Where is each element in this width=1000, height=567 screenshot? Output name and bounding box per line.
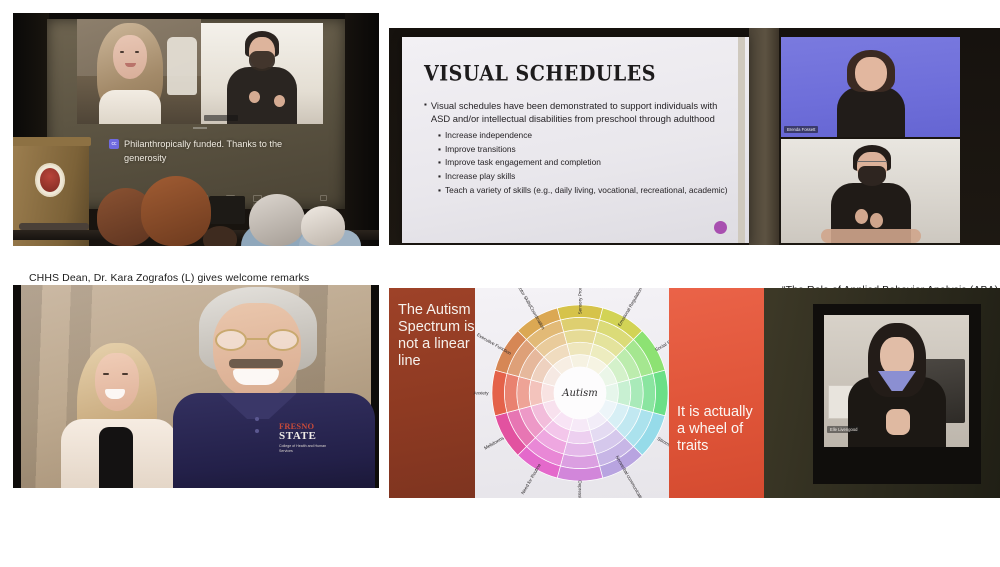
figure-aba-presentation: VISUAL SCHEDULES ▪ Visual schedules have… (389, 28, 1000, 245)
projection-screen: cc Philanthropically funded. Thanks to t… (47, 19, 345, 209)
person-mustache (229, 359, 283, 368)
signing-hand-right (274, 95, 285, 107)
live-caption-line-1: Philanthropically funded. Thanks to the (124, 137, 282, 151)
polo-button (255, 429, 259, 433)
wall-divider (749, 28, 779, 245)
sub-bullet-text: Increase independence (445, 129, 532, 143)
person-beard (249, 51, 275, 71)
slide-bullet-main-text: Visual schedules have been demonstrated … (431, 99, 731, 126)
bullet-marker-icon: ▪ (438, 170, 441, 184)
screen-edge (738, 37, 745, 243)
live-caption-overlay: cc Philanthropically funded. Thanks to t… (109, 137, 321, 166)
audience-head (249, 194, 305, 246)
photo-auditorium-welcome: cc Philanthropically funded. Thanks to t… (13, 13, 379, 246)
person-face (95, 353, 139, 411)
interpreter-video-tile (201, 23, 323, 124)
dean-video-tile (77, 19, 201, 124)
person-eye-right (135, 51, 139, 53)
room-background: VISUAL SCHEDULES ▪ Visual schedules have… (389, 28, 1000, 245)
list-item: ▪ Improve transitions (438, 143, 731, 157)
bullet-marker-icon: ▪ (424, 99, 427, 126)
wheel-segment-label: Anxiety (473, 391, 488, 396)
photo-visual-schedules-slide: VISUAL SCHEDULES ▪ Visual schedules have… (389, 28, 1000, 245)
bullet-marker-icon: ▪ (438, 156, 441, 170)
audience-head (203, 226, 237, 246)
participant-nameplate: Elle Livengood (827, 426, 860, 433)
wheel-label-layer: Sensory ProcessingEmotional RegulationSo… (491, 304, 669, 482)
person-torso (837, 87, 905, 137)
list-item: ▪ Increase independence (438, 129, 731, 143)
clasped-hands (886, 409, 910, 435)
person-inner-top (99, 427, 133, 488)
auditorium-room: cc Philanthropically funded. Thanks to t… (13, 13, 379, 246)
interpreter-video-tile (781, 139, 960, 243)
sub-bullet-text: Increase play skills (445, 170, 515, 184)
podium-top (13, 137, 91, 146)
signing-hand-left (249, 91, 260, 103)
slide-title: VISUAL SCHEDULES (424, 62, 656, 87)
list-item: ▪ Increase play skills (438, 170, 731, 184)
person-eye-left (120, 51, 124, 53)
caption-divider (193, 127, 207, 129)
slide-panel-right: It is actually a wheel of traits (669, 288, 764, 498)
logo-line-2: STATE (279, 431, 339, 443)
presenter-video-tile: Brenda Fossett (781, 37, 960, 137)
person-beard (858, 166, 886, 186)
bullet-marker-icon: ▪ (438, 184, 441, 198)
podium-rail (19, 223, 89, 230)
fresno-state-logo: FRESNO STATE College of Health and Human… (279, 423, 339, 453)
lens-right (267, 329, 299, 351)
eyeglasses (215, 329, 301, 351)
slide-panel-left: The Autism Spectrum is not a linear line (389, 288, 475, 498)
bullet-marker-icon: ▪ (438, 143, 441, 157)
list-item: ▪ Improve task engagement and completion (438, 156, 731, 170)
sub-bullet-text: Improve task engagement and completion (445, 156, 601, 170)
presentation-slide: VISUAL SCHEDULES ▪ Visual schedules have… (402, 37, 749, 243)
loudspeaker (209, 196, 245, 224)
seal-emblem (40, 168, 60, 192)
photo-dean-and-founder: FRESNO STATE College of Health and Human… (13, 285, 379, 488)
person-arms (821, 229, 921, 243)
closed-caption-icon: cc (109, 139, 119, 149)
photo-gallery-page: cc Philanthropically funded. Thanks to t… (0, 0, 1000, 567)
university-seal (35, 163, 65, 197)
signing-hand-left (855, 209, 868, 224)
person-face (113, 35, 147, 79)
chair (167, 37, 197, 95)
sub-bullet-text: Teach a variety of skills (e.g., daily l… (445, 184, 728, 198)
person-mouth (233, 369, 279, 385)
slide-left-text: The Autism Spectrum is not a linear line (398, 302, 475, 370)
laser-pointer-dot (714, 221, 727, 234)
room-background: The Autism Spectrum is not a linear line… (389, 288, 1000, 498)
person-face (855, 57, 887, 91)
slide-sub-bullets: ▪ Increase independence ▪ Improve transi… (438, 129, 731, 197)
slide-body: ▪ Visual schedules have been demonstrate… (424, 99, 731, 197)
participant-nameplate (204, 115, 238, 121)
lens-left (215, 329, 247, 351)
logo-line-3: College of Health and Human Services (279, 444, 339, 453)
projection-screen: FRESNO STATE College of Health and Human… (21, 285, 371, 488)
wheel-segment-label: Sensory Processing (578, 288, 583, 314)
slide-bullet-main: ▪ Visual schedules have been demonstrate… (424, 99, 731, 126)
wheel-segment-label: Depression (578, 480, 583, 498)
slide-right-text: It is actually a wheel of traits (677, 404, 764, 455)
leave-icon (320, 195, 327, 201)
photo-autism-wheel-slide: The Autism Spectrum is not a linear line… (389, 288, 1000, 498)
person-torso (99, 90, 161, 124)
list-item: ▪ Teach a variety of skills (e.g., daily… (438, 184, 731, 198)
audience-head (141, 176, 211, 246)
signing-hand-right (870, 213, 883, 228)
audience-head (301, 206, 345, 246)
figure-caption: CHHS Dean, Dr. Kara Zografos (L) gives w… (29, 271, 379, 286)
glasses-bridge (247, 338, 267, 340)
figure-welcome-remarks: cc Philanthropically funded. Thanks to t… (13, 13, 379, 246)
participant-nameplate: Brenda Fossett (784, 126, 818, 133)
keynote-video-tile: Elle Livengood (824, 315, 969, 447)
live-caption-line-2: generosity (124, 151, 282, 165)
bullet-marker-icon: ▪ (438, 129, 441, 143)
figure-silent-garden-intro: FRESNO STATE College of Health and Human… (13, 285, 379, 488)
polo-button (255, 417, 259, 421)
figure-keynote-autism-wheel: The Autism Spectrum is not a linear line… (389, 288, 1000, 498)
sub-bullet-text: Improve transitions (445, 143, 516, 157)
wall-right (345, 13, 379, 246)
